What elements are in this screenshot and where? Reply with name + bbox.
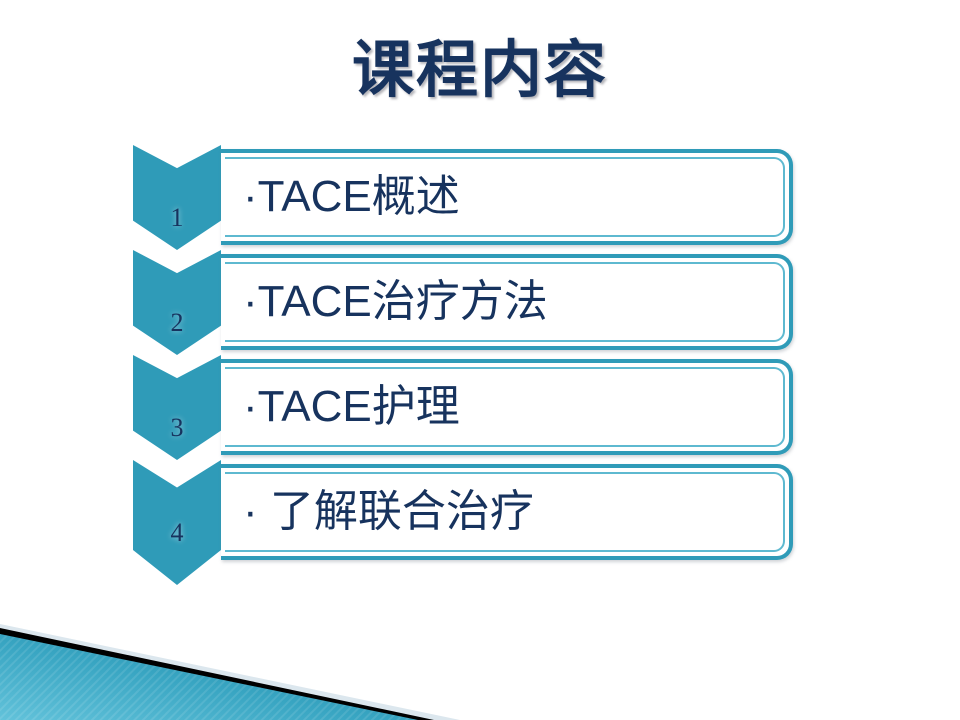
list-item[interactable]: 4 · 了解联合治疗 bbox=[133, 460, 793, 585]
list-item-label: ·TACE治疗方法 bbox=[243, 278, 773, 326]
list-item-number: 3 bbox=[133, 413, 221, 443]
list-item-box[interactable]: ·TACE护理 bbox=[221, 359, 793, 455]
list-item[interactable]: 1 ·TACE概述 bbox=[133, 145, 793, 245]
list-item[interactable]: 2 ·TACE治疗方法 bbox=[133, 250, 793, 350]
list-item-box-inner: ·TACE护理 bbox=[225, 367, 785, 447]
content-list: 1 ·TACE概述 2 ·TACE治疗方法 3 ·TACE护理 bbox=[0, 0, 960, 720]
chevron-down-icon bbox=[133, 145, 221, 250]
list-item-label: ·TACE概述 bbox=[243, 173, 773, 221]
list-item-box-inner: ·TACE概述 bbox=[225, 157, 785, 237]
list-item-box[interactable]: ·TACE治疗方法 bbox=[221, 254, 793, 350]
list-item-box[interactable]: ·TACE概述 bbox=[221, 149, 793, 245]
list-item[interactable]: 3 ·TACE护理 bbox=[133, 355, 793, 455]
list-item-label: · 了解联合治疗 bbox=[243, 488, 773, 536]
list-item-label: ·TACE护理 bbox=[243, 383, 773, 431]
slide-canvas: 课程内容 1 ·TACE概述 2 ·TACE治疗方法 3 bbox=[0, 0, 960, 720]
list-item-box-inner: ·TACE治疗方法 bbox=[225, 262, 785, 342]
list-item-number: 4 bbox=[133, 518, 221, 548]
list-item-box-inner: · 了解联合治疗 bbox=[225, 472, 785, 552]
chevron-down-icon bbox=[133, 355, 221, 460]
chevron-down-icon bbox=[133, 250, 221, 355]
list-item-number: 2 bbox=[133, 308, 221, 338]
list-item-box[interactable]: · 了解联合治疗 bbox=[221, 464, 793, 560]
list-item-number: 1 bbox=[133, 203, 221, 233]
